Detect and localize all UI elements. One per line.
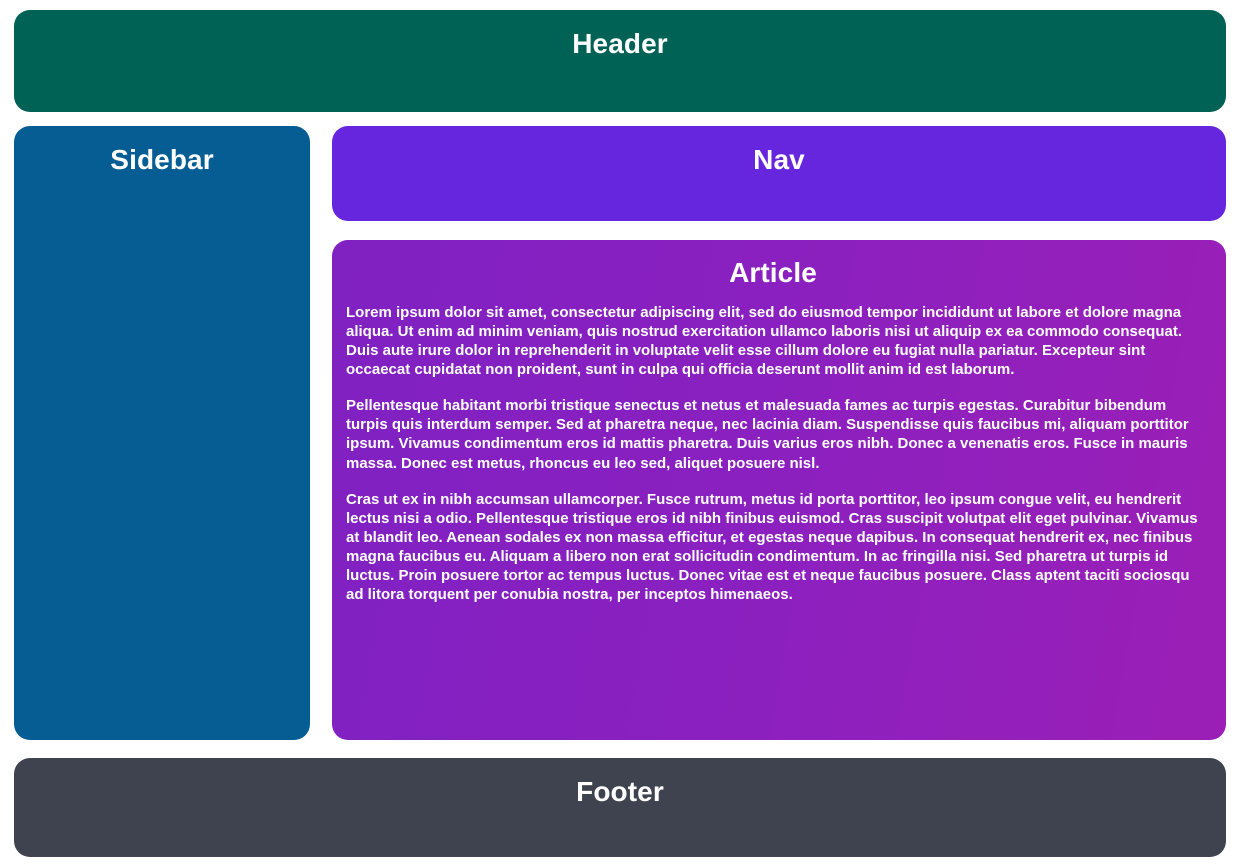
- article-body: Lorem ipsum dolor sit amet, consectetur …: [342, 303, 1204, 604]
- middle-region: Sidebar Nav Article Lorem ipsum dolor si…: [14, 126, 1226, 740]
- header-title: Header: [34, 28, 1206, 60]
- article-paragraph: Pellentesque habitant morbi tristique se…: [342, 396, 1204, 472]
- main-column: Nav Article Lorem ipsum dolor sit amet, …: [332, 126, 1226, 740]
- article-paragraph: Lorem ipsum dolor sit amet, consectetur …: [342, 303, 1204, 379]
- footer-title: Footer: [34, 776, 1206, 808]
- article-title: Article: [342, 257, 1204, 289]
- sidebar-region: Sidebar: [14, 126, 310, 740]
- article-region: Article Lorem ipsum dolor sit amet, cons…: [332, 240, 1226, 740]
- sidebar-title: Sidebar: [28, 144, 296, 176]
- nav-region[interactable]: Nav: [332, 126, 1226, 221]
- article-paragraph: Cras ut ex in nibh accumsan ullamcorper.…: [342, 490, 1204, 604]
- page-root: Header Sidebar Nav Article Lorem ipsum d…: [0, 0, 1238, 867]
- nav-title: Nav: [352, 144, 1206, 176]
- header-region: Header: [14, 10, 1226, 112]
- footer-region: Footer: [14, 758, 1226, 857]
